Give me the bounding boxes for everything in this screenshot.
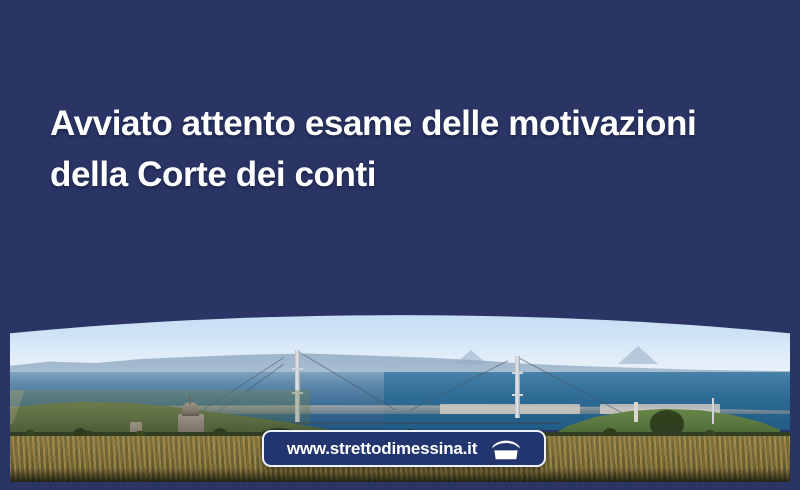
- bridge-cable-center-right: [410, 360, 508, 411]
- bridge-tower-right-bar-1: [512, 372, 523, 374]
- frame-edge-left: [0, 0, 10, 490]
- poster-card: Avviato attento esame delle motivazioni …: [0, 0, 800, 490]
- page-title: Avviato attento esame delle motivazioni …: [50, 98, 760, 200]
- stone-ruin-turret: [182, 402, 199, 416]
- bridge-logo-icon: [491, 437, 521, 461]
- grass-shadow: [10, 468, 790, 482]
- bridge-tower-left-bar-1: [292, 368, 303, 370]
- frame-edge-right: [790, 0, 800, 490]
- bridge-cable-center-left: [300, 352, 397, 411]
- farm-fields: [10, 390, 310, 424]
- headline-line-2: della Corte dei conti: [50, 149, 760, 200]
- frame-edge-bottom: [0, 482, 800, 490]
- headline-line-1: Avviato attento esame delle motivazioni: [50, 98, 760, 149]
- monument-obelisk: [634, 402, 638, 422]
- website-url-badge[interactable]: www.strettodimessina.it: [262, 430, 546, 467]
- bridge-tower-right: [515, 356, 520, 418]
- stone-ruin-pole: [189, 395, 191, 404]
- bridge-cable-right: [520, 358, 626, 415]
- bridge-tower-right-bar-2: [512, 394, 523, 396]
- power-pylon: [712, 398, 714, 424]
- website-url-text: www.strettodimessina.it: [287, 440, 477, 457]
